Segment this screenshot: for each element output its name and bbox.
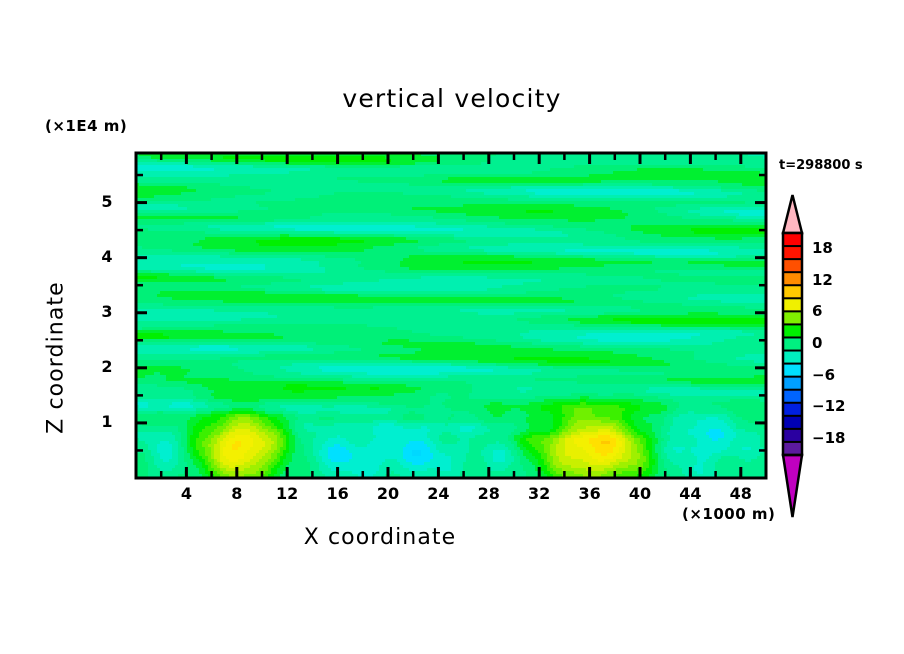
colorbar (783, 195, 802, 517)
x-tick-label: 48 (716, 484, 766, 503)
colorbar-tick-label: −6 (812, 366, 835, 384)
y-tick-label: 1 (92, 412, 122, 431)
x-tick-label: 4 (161, 484, 211, 503)
x-tick-label: 32 (514, 484, 564, 503)
colorbar-segment (783, 272, 802, 286)
colorbar-under-arrow (783, 455, 802, 517)
y-tick-label: 5 (92, 192, 122, 211)
x-tick-label: 40 (615, 484, 665, 503)
colorbar-segment (783, 298, 802, 312)
colorbar-tick-label: −18 (812, 429, 845, 447)
x-tick-label: 8 (212, 484, 262, 503)
colorbar-over-arrow (783, 195, 802, 233)
colorbar-tick-label: −12 (812, 397, 845, 415)
colorbar-segment (783, 351, 802, 365)
y-tick-label: 3 (92, 302, 122, 321)
colorbar-segment (783, 416, 802, 430)
colorbar-tick-label: 0 (812, 334, 822, 352)
y-tick-label: 4 (92, 247, 122, 266)
x-tick-label: 12 (262, 484, 312, 503)
colorbar-segment (783, 233, 802, 247)
colorbar-segment (783, 390, 802, 404)
x-tick-label: 20 (363, 484, 413, 503)
y-tick-label: 2 (92, 357, 122, 376)
x-tick-label: 24 (413, 484, 463, 503)
x-tick-label: 44 (665, 484, 715, 503)
contour-field (136, 153, 767, 481)
colorbar-segment (783, 324, 802, 338)
contour-plot-figure: vertical velocity (×1E4 m) (×1000 m) t=2… (0, 0, 904, 654)
colorbar-tick-label: 18 (812, 239, 833, 257)
colorbar-segment (783, 337, 802, 351)
colorbar-segment (783, 259, 802, 273)
colorbar-segment (783, 285, 802, 299)
colorbar-tick-label: 12 (812, 271, 833, 289)
colorbar-segment (783, 442, 802, 456)
colorbar-segment (783, 246, 802, 260)
colorbar-segment (783, 403, 802, 417)
x-tick-label: 28 (464, 484, 514, 503)
contour-plot-canvas (0, 0, 904, 654)
x-tick-label: 36 (565, 484, 615, 503)
colorbar-segment (783, 429, 802, 443)
colorbar-segment (783, 364, 802, 378)
colorbar-segment (783, 311, 802, 325)
x-tick-label: 16 (313, 484, 363, 503)
colorbar-segment (783, 377, 802, 391)
colorbar-tick-label: 6 (812, 302, 822, 320)
